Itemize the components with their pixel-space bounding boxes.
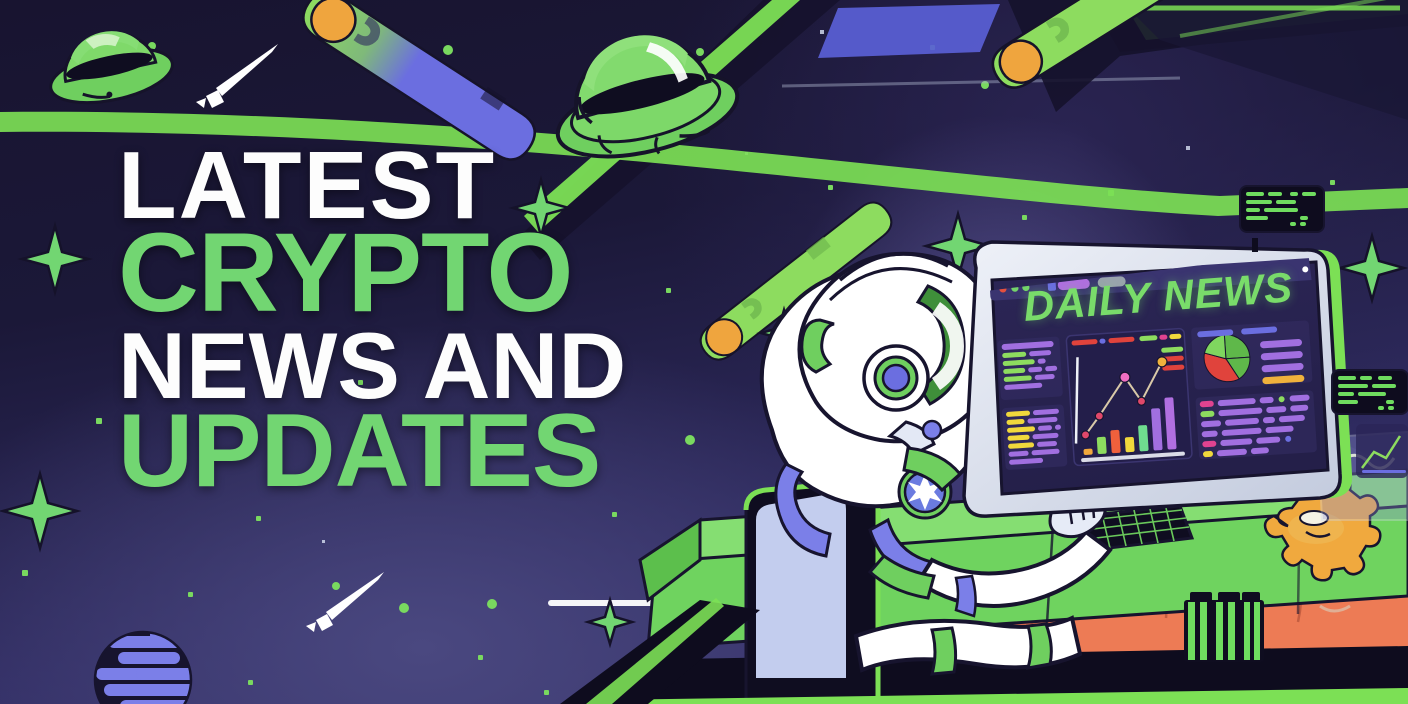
headline-line-4: UPDATES	[118, 406, 626, 498]
hero-banner: LATEST CRYPTO NEWS AND UPDATES	[0, 0, 1408, 704]
page-title: LATEST CRYPTO NEWS AND UPDATES	[118, 144, 626, 497]
headline-line-2: CRYPTO	[118, 224, 626, 323]
